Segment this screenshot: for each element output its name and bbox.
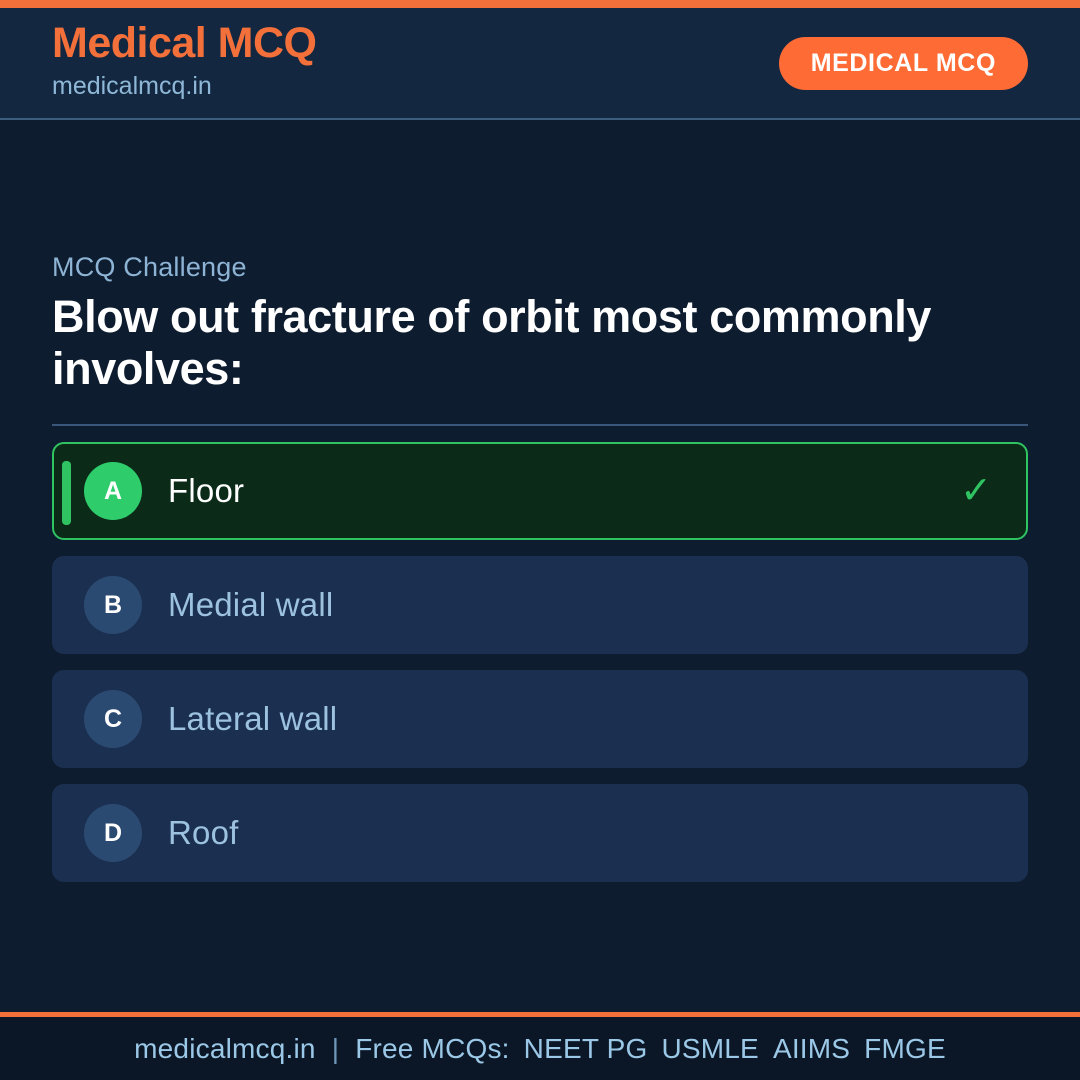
footer-exam-neet-pg: NEET PG xyxy=(524,1033,648,1065)
footer-site: medicalmcq.in xyxy=(134,1033,316,1065)
brand-site-url: medicalmcq.in xyxy=(52,68,317,106)
eyebrow-label: MCQ Challenge xyxy=(52,252,1028,283)
footer-exam-fmge: FMGE xyxy=(864,1033,946,1065)
brand-title: Medical MCQ xyxy=(52,21,317,66)
correct-accent-bar xyxy=(62,461,71,525)
option-d[interactable]: D Roof xyxy=(52,784,1028,882)
footer-separator: | xyxy=(332,1033,339,1065)
page-footer: medicalmcq.in | Free MCQs: NEET PG USMLE… xyxy=(0,1012,1080,1080)
page-header: Medical MCQ medicalmcq.in MEDICAL MCQ xyxy=(0,8,1080,120)
footer-exams-label: Free MCQs: xyxy=(355,1033,509,1065)
main-content: MCQ Challenge Blow out fracture of orbit… xyxy=(0,122,1080,1012)
brand-block: Medical MCQ medicalmcq.in xyxy=(52,21,317,106)
option-a-label: Floor xyxy=(168,472,244,510)
option-d-label: Roof xyxy=(168,814,239,852)
options-list: A Floor ✓ B Medial wall C Lateral wall D… xyxy=(52,442,1028,882)
option-c-label: Lateral wall xyxy=(168,700,337,738)
option-b-badge: B xyxy=(84,576,142,634)
option-b[interactable]: B Medial wall xyxy=(52,556,1028,654)
footer-exam-usmle: USMLE xyxy=(661,1033,758,1065)
option-c-badge: C xyxy=(84,690,142,748)
header-badge: MEDICAL MCQ xyxy=(779,37,1028,90)
question-divider xyxy=(52,424,1028,426)
option-a[interactable]: A Floor ✓ xyxy=(52,442,1028,540)
option-b-label: Medial wall xyxy=(168,586,333,624)
top-accent-strip xyxy=(0,0,1080,8)
option-d-badge: D xyxy=(84,804,142,862)
checkmark-icon: ✓ xyxy=(960,472,998,510)
option-a-badge: A xyxy=(84,462,142,520)
footer-exam-aiims: AIIMS xyxy=(773,1033,850,1065)
question-text: Blow out fracture of orbit most commonly… xyxy=(52,291,972,395)
option-c[interactable]: C Lateral wall xyxy=(52,670,1028,768)
